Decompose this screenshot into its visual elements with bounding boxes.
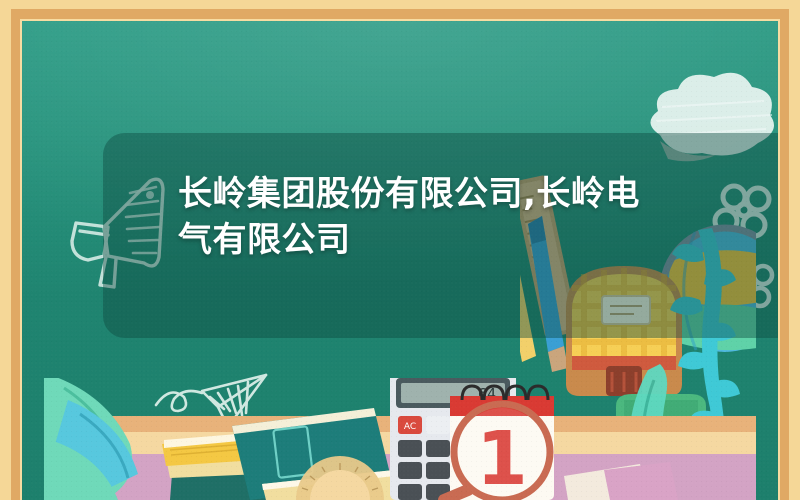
svg-text:AC: AC <box>404 422 416 432</box>
page-title: 长岭集团股份有限公司,长岭电气有限公司 <box>178 172 648 263</box>
paper-icon <box>564 462 678 500</box>
poster-canvas: 64 AC <box>0 0 800 500</box>
desk-surface: 64 AC <box>44 378 756 500</box>
